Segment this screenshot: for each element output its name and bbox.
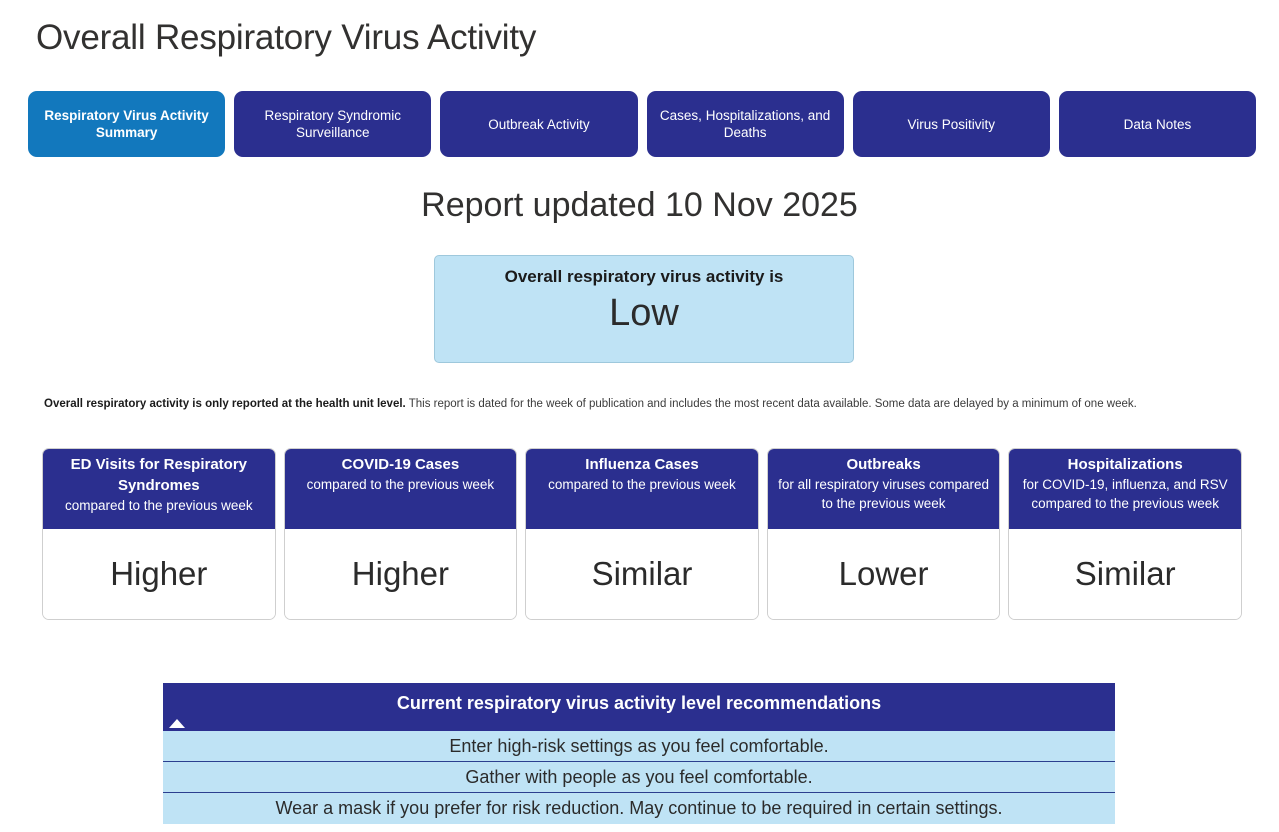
- overall-activity-value: Low: [609, 289, 679, 337]
- tab-cases-hospitalizations-and-deaths[interactable]: Cases, Hospitalizations, and Deaths: [647, 91, 844, 157]
- metric-card-header: Hospitalizationsfor COVID-19, influenza,…: [1009, 449, 1241, 529]
- metric-card-body: Similar: [1009, 529, 1241, 619]
- metric-card-value: Similar: [592, 555, 693, 593]
- metric-card-row: ED Visits for Respiratory Syndromescompa…: [42, 448, 1242, 620]
- tab-outbreak-activity[interactable]: Outbreak Activity: [440, 91, 637, 157]
- recommendation-row: Enter high-risk settings as you feel com…: [163, 731, 1115, 762]
- tab-bar: Respiratory Virus Activity SummaryRespir…: [28, 91, 1256, 157]
- metric-card-body: Higher: [285, 529, 517, 619]
- metric-card-header: COVID-19 Casescompared to the previous w…: [285, 449, 517, 529]
- metric-card-value: Similar: [1075, 555, 1176, 593]
- recommendation-row: Wear a mask if you prefer for risk reduc…: [163, 793, 1115, 824]
- metric-card-subtitle: compared to the previous week: [532, 475, 752, 494]
- metric-card-title: Hospitalizations: [1015, 454, 1235, 475]
- metric-card-value: Higher: [352, 555, 449, 593]
- overall-activity-label: Overall respiratory virus activity is: [505, 267, 784, 287]
- overall-activity-status-box: Overall respiratory virus activity is Lo…: [434, 255, 854, 363]
- tab-respiratory-virus-activity-summary[interactable]: Respiratory Virus Activity Summary: [28, 91, 225, 157]
- metric-card-value: Higher: [110, 555, 207, 593]
- recommendations-table: Current respiratory virus activity level…: [163, 683, 1115, 824]
- tab-label: Respiratory Syndromic Surveillance: [242, 107, 423, 141]
- metric-card-subtitle: compared to the previous week: [49, 496, 269, 515]
- dashboard-page: Overall Respiratory Virus Activity Respi…: [0, 0, 1279, 832]
- recommendations-table-header-label: Current respiratory virus activity level…: [397, 693, 881, 713]
- recommendations-table-header[interactable]: Current respiratory virus activity level…: [163, 683, 1115, 731]
- metric-card-body: Higher: [43, 529, 275, 619]
- disclaimer-bold-lead: Overall respiratory activity is only rep…: [44, 398, 406, 410]
- metric-card: Outbreaksfor all respiratory viruses com…: [767, 448, 1001, 620]
- metric-card-body: Similar: [526, 529, 758, 619]
- tab-label: Virus Positivity: [908, 116, 996, 133]
- metric-card-title: Outbreaks: [774, 454, 994, 475]
- recommendations-row-list: Enter high-risk settings as you feel com…: [163, 731, 1115, 824]
- metric-card-title: ED Visits for Respiratory Syndromes: [49, 454, 269, 496]
- disclaimer-text: Overall respiratory activity is only rep…: [44, 395, 1234, 413]
- tab-label: Cases, Hospitalizations, and Deaths: [655, 107, 836, 141]
- metric-card-title: Influenza Cases: [532, 454, 752, 475]
- metric-card-subtitle: for all respiratory viruses compared to …: [774, 475, 994, 513]
- tab-virus-positivity[interactable]: Virus Positivity: [853, 91, 1050, 157]
- metric-card-subtitle: for COVID-19, influenza, and RSV compare…: [1015, 475, 1235, 513]
- metric-card-title: COVID-19 Cases: [291, 454, 511, 475]
- tab-label: Respiratory Virus Activity Summary: [36, 107, 217, 141]
- metric-card: COVID-19 Casescompared to the previous w…: [284, 448, 518, 620]
- metric-card-value: Lower: [839, 555, 929, 593]
- metric-card: Influenza Casescompared to the previous …: [525, 448, 759, 620]
- tab-respiratory-syndromic-surveillance[interactable]: Respiratory Syndromic Surveillance: [234, 91, 431, 157]
- tab-data-notes[interactable]: Data Notes: [1059, 91, 1256, 157]
- metric-card-header: Outbreaksfor all respiratory viruses com…: [768, 449, 1000, 529]
- metric-card-header: ED Visits for Respiratory Syndromescompa…: [43, 449, 275, 529]
- metric-card-body: Lower: [768, 529, 1000, 619]
- tab-label: Outbreak Activity: [488, 116, 589, 133]
- tab-label: Data Notes: [1124, 116, 1192, 133]
- metric-card-subtitle: compared to the previous week: [291, 475, 511, 494]
- recommendation-row: Gather with people as you feel comfortab…: [163, 762, 1115, 793]
- page-title: Overall Respiratory Virus Activity: [36, 18, 536, 58]
- disclaimer-rest: This report is dated for the week of pub…: [406, 398, 1137, 410]
- report-updated-heading: Report updated 10 Nov 2025: [0, 186, 1279, 225]
- sort-ascending-triangle-icon[interactable]: [169, 719, 185, 728]
- metric-card-header: Influenza Casescompared to the previous …: [526, 449, 758, 529]
- metric-card: Hospitalizationsfor COVID-19, influenza,…: [1008, 448, 1242, 620]
- metric-card: ED Visits for Respiratory Syndromescompa…: [42, 448, 276, 620]
